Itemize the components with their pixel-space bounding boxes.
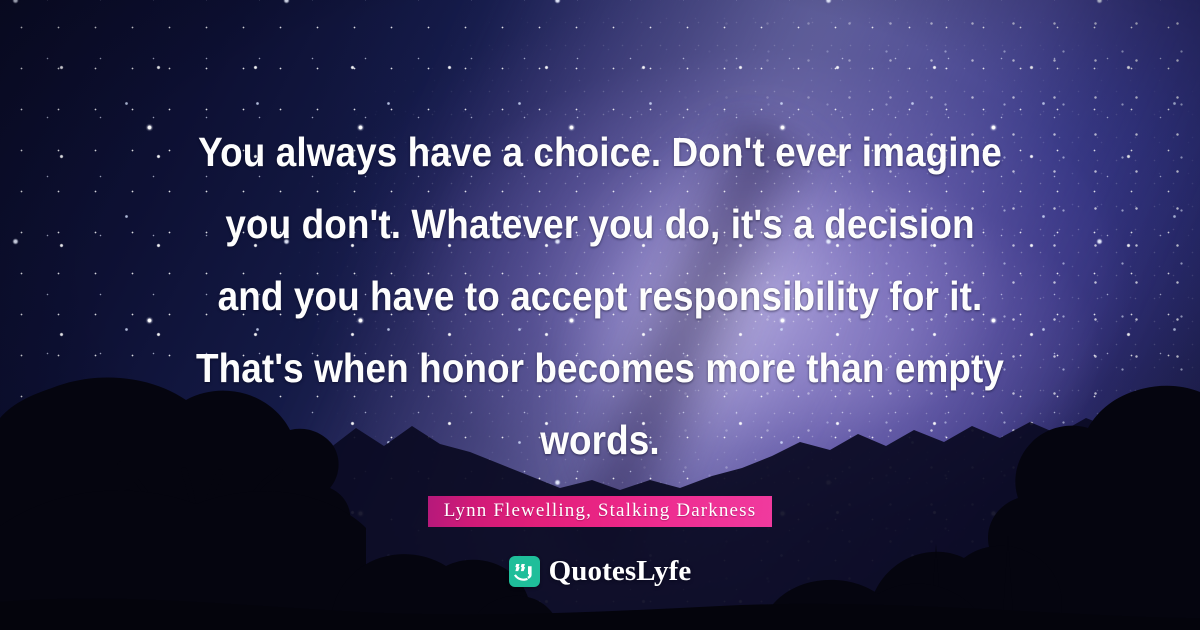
quote-line-5: words. [114,404,1086,476]
quote-line-3: and you have to accept responsibility fo… [114,260,1086,332]
quote-line-1: You always have a choice. Don't ever ima… [114,116,1086,188]
quote-mark-icon [509,556,540,587]
attribution-banner: Lynn Flewelling, Stalking Darkness [428,496,772,527]
attribution-banner-wrapper: Lynn Flewelling, Stalking Darkness [0,496,1200,527]
quote-image-canvas: You always have a choice. Don't ever ima… [0,0,1200,630]
quote-text-block: You always have a choice. Don't ever ima… [0,116,1200,476]
brand-logo[interactable]: QuotesLyfe [0,556,1200,587]
quote-line-2: you don't. Whatever you do, it's a decis… [114,188,1086,260]
quote-line-4: That's when honor becomes more than empt… [114,332,1086,404]
brand-name: QuotesLyfe [549,556,692,587]
